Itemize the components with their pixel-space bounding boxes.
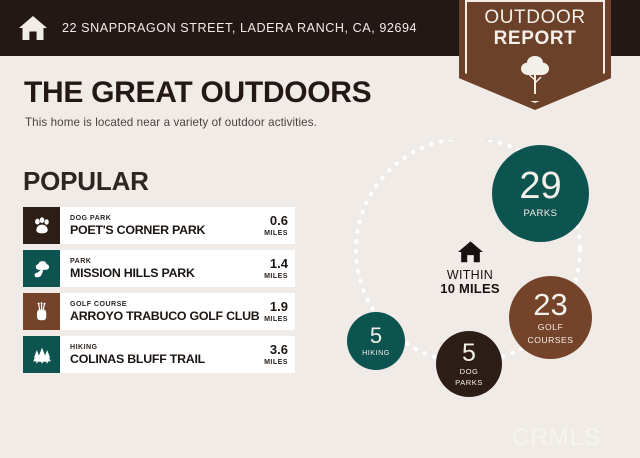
list-item-category: DOG PARK	[70, 214, 205, 223]
popular-heading: POPULAR	[23, 166, 149, 197]
distance-unit: MILES	[264, 315, 288, 323]
popular-list: DOG PARK POET'S CORNER PARK 0.6 MILES	[23, 207, 295, 379]
list-item-distance: 3.6 MILES	[260, 343, 288, 365]
list-item[interactable]: DOG PARK POET'S CORNER PARK 0.6 MILES	[23, 207, 295, 244]
tree-icon	[459, 54, 611, 101]
list-item-category: GOLF COURSE	[70, 300, 260, 309]
list-item-distance: 0.6 MILES	[260, 214, 288, 236]
bubble-dog-parks[interactable]: 5 DOG PARKS	[436, 331, 502, 397]
outdoor-report-page: 22 SNAPDRAGON STREET, LADERA RANCH, CA, …	[0, 0, 640, 458]
bubble-label-line-1: DOG	[460, 368, 479, 377]
distance-value: 1.9	[264, 300, 288, 314]
tree-park-icon	[23, 250, 60, 287]
bubble-count: 29	[519, 167, 561, 205]
list-item-distance: 1.9 MILES	[260, 300, 288, 322]
watermark: CRMLS	[512, 424, 601, 452]
header-address: 22 SNAPDRAGON STREET, LADERA RANCH, CA, …	[62, 21, 417, 35]
bubble-label-line-2: PARKS	[455, 379, 483, 388]
bubble-label-line-1: GOLF	[538, 323, 563, 333]
bubble-label: HIKING	[362, 349, 390, 357]
list-item-name: MISSION HILLS PARK	[70, 266, 195, 280]
list-item-distance: 1.4 MILES	[260, 257, 288, 279]
banner-line-1: OUTDOOR	[459, 8, 611, 29]
banner-title: OUTDOOR REPORT	[459, 8, 611, 49]
bubble-label-line-2: COURSES	[528, 336, 574, 346]
bubble-parks[interactable]: 29 PARKS	[492, 145, 589, 242]
distance-unit: MILES	[264, 229, 288, 237]
list-item-name: POET'S CORNER PARK	[70, 223, 205, 237]
distance-value: 1.4	[264, 257, 288, 271]
list-item-body: PARK MISSION HILLS PARK 1.4 MILES	[60, 250, 295, 287]
list-item[interactable]: HIKING COLINAS BLUFF TRAIL 3.6 MILES	[23, 336, 295, 373]
list-item-category: PARK	[70, 257, 195, 266]
bubble-count: 23	[533, 289, 567, 320]
list-item-body: HIKING COLINAS BLUFF TRAIL 3.6 MILES	[60, 336, 295, 373]
banner-line-2: REPORT	[459, 29, 611, 50]
page-title: THE GREAT OUTDOORS	[24, 76, 371, 110]
proximity-diagram: 29 PARKS 23 GOLF COURSES 5 DOG PARKS 5 H…	[325, 140, 640, 450]
bubble-label: PARKS	[523, 209, 557, 220]
center-line-2: 10 MILES	[417, 282, 523, 297]
list-item-body: DOG PARK POET'S CORNER PARK 0.6 MILES	[60, 207, 295, 244]
outdoor-report-banner: OUTDOOR REPORT	[459, 0, 611, 110]
golf-bag-icon	[23, 293, 60, 330]
bubble-count: 5	[370, 325, 382, 347]
list-item-body: GOLF COURSE ARROYO TRABUCO GOLF CLUB 1.9…	[60, 293, 295, 330]
home-icon	[17, 13, 49, 43]
center-line-1: WITHIN	[417, 268, 523, 282]
page-subtitle: This home is located near a variety of o…	[25, 116, 317, 129]
list-item[interactable]: PARK MISSION HILLS PARK 1.4 MILES	[23, 250, 295, 287]
paw-icon	[23, 207, 60, 244]
diagram-center: WITHIN 10 MILES	[417, 240, 523, 297]
home-icon	[417, 240, 523, 264]
list-item[interactable]: GOLF COURSE ARROYO TRABUCO GOLF CLUB 1.9…	[23, 293, 295, 330]
pine-trees-icon	[23, 336, 60, 373]
distance-unit: MILES	[264, 358, 288, 366]
distance-unit: MILES	[264, 272, 288, 280]
distance-value: 3.6	[264, 343, 288, 357]
bubble-hiking[interactable]: 5 HIKING	[347, 312, 405, 370]
list-item-name: COLINAS BLUFF TRAIL	[70, 352, 205, 366]
bubble-count: 5	[462, 341, 476, 366]
distance-value: 0.6	[264, 214, 288, 228]
list-item-category: HIKING	[70, 343, 205, 352]
list-item-name: ARROYO TRABUCO GOLF CLUB	[70, 309, 260, 323]
